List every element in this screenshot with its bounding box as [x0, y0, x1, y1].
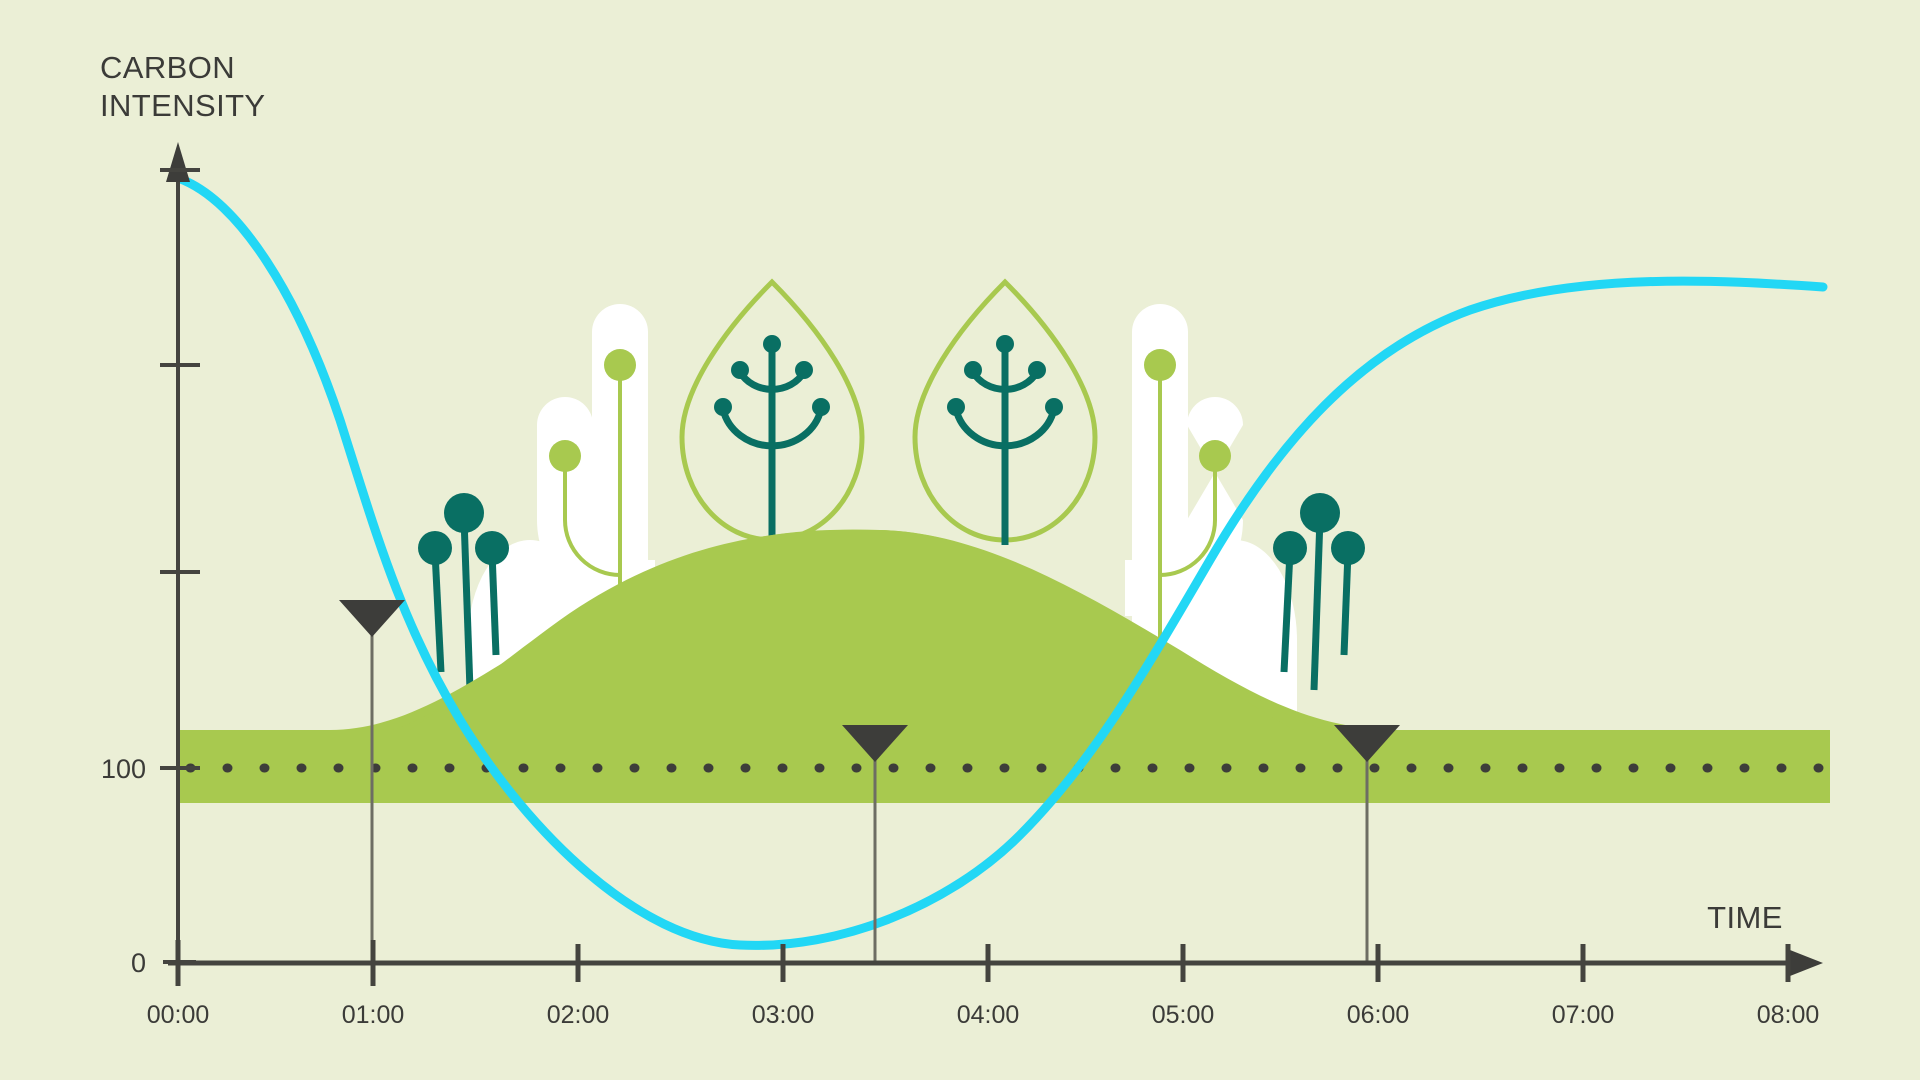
chart-canvas: CARBON INTENSITY TIME 100 0 00:00 01:00 … [0, 0, 1920, 1080]
x-tick-label-2: 02:00 [547, 1001, 610, 1029]
x-tick-label-8: 08:00 [1757, 1001, 1820, 1029]
y-tick-label-0: 0 [131, 948, 146, 978]
y-axis-title-line2: INTENSITY [100, 88, 266, 123]
x-tick-label-7: 07:00 [1552, 1001, 1615, 1029]
x-tick-label-6: 06:00 [1347, 1001, 1410, 1029]
x-tick-label-5: 05:00 [1152, 1001, 1215, 1029]
y-tick-label-100: 100 [101, 754, 146, 784]
x-tick-label-3: 03:00 [752, 1001, 815, 1029]
x-axis-title: TIME [1707, 900, 1783, 935]
x-tick-label-0: 00:00 [147, 1001, 210, 1029]
y-axis-title-line1: CARBON [100, 50, 235, 85]
carbon-intensity-chart: CARBON INTENSITY TIME 100 0 00:00 01:00 … [0, 0, 1920, 1080]
x-tick-label-4: 04:00 [957, 1001, 1020, 1029]
background [0, 0, 1920, 1080]
x-tick-label-1: 01:00 [342, 1001, 405, 1029]
